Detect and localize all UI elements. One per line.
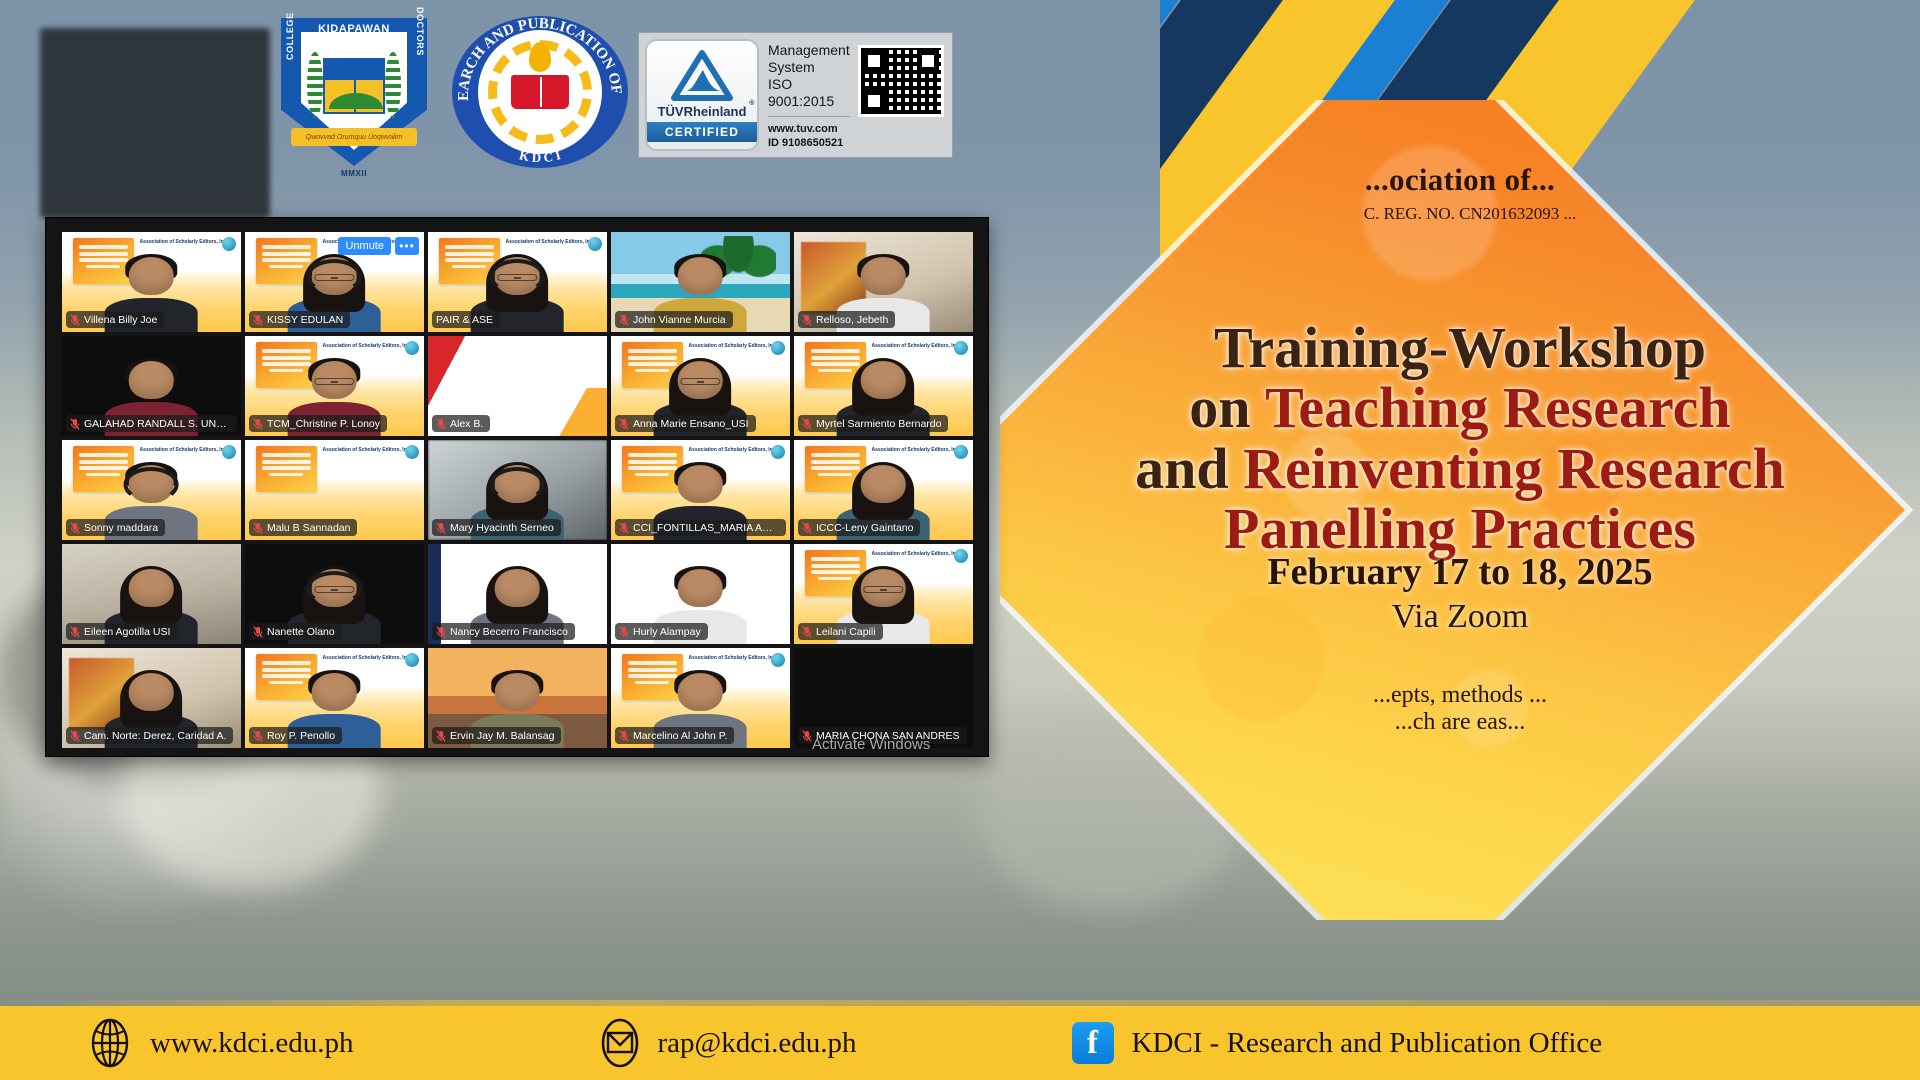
muted-microphone-icon bbox=[253, 730, 263, 742]
participant-name-badge: TCM_Christine P. Lonoy bbox=[249, 415, 387, 432]
participant-name-badge: Eileen Agotilla USI bbox=[66, 623, 177, 640]
muted-microphone-icon bbox=[619, 314, 629, 326]
participant-name-badge: Anna Marie Ensano_USI bbox=[615, 415, 756, 432]
participant-tile[interactable]: Eileen Agotilla USI bbox=[62, 544, 241, 644]
muted-microphone-icon bbox=[436, 730, 446, 742]
participant-tile[interactable]: Association of Scholarly Editors, Inc.Ro… bbox=[245, 648, 424, 748]
eyeglasses-icon bbox=[864, 586, 904, 593]
muted-microphone-icon bbox=[70, 522, 80, 534]
association-banner-text: Association of Scholarly Editors, Inc. bbox=[500, 239, 600, 248]
participant-name: Leilani Capili bbox=[816, 626, 876, 638]
facebook-icon: f bbox=[1072, 1022, 1114, 1064]
muted-microphone-icon bbox=[619, 626, 629, 638]
participant-name-badge: Hurly Alampay bbox=[615, 623, 708, 640]
association-banner-text: Association of Scholarly Editors, Inc. bbox=[866, 343, 966, 352]
tuv-line-1: Management bbox=[768, 42, 858, 59]
tuv-id: ID 9108650521 bbox=[768, 137, 843, 149]
participant-name: KISSY EDULAN bbox=[267, 314, 343, 326]
seal-text-right: DOCTORS bbox=[415, 7, 425, 56]
association-logo-icon bbox=[405, 445, 419, 459]
participant-name: Nanette Olano bbox=[267, 626, 335, 638]
footer-facebook-text: KDCI - Research and Publication Office bbox=[1132, 1027, 1603, 1060]
participant-name-badge: ICCC-Leny Gaintano bbox=[798, 519, 920, 536]
participant-tile[interactable]: Association of Scholarly Editors, Inc.My… bbox=[794, 336, 973, 436]
globe-icon bbox=[88, 1018, 132, 1068]
muted-microphone-icon bbox=[436, 522, 446, 534]
muted-microphone-icon bbox=[802, 730, 812, 742]
muted-microphone-icon bbox=[70, 314, 80, 326]
association-banner-text: Association of Scholarly Editors, Inc. bbox=[317, 655, 417, 664]
association-logo-icon bbox=[405, 653, 419, 667]
participant-name: Villena Billy Joe bbox=[84, 314, 157, 326]
footer-website-text: www.kdci.edu.ph bbox=[150, 1027, 354, 1060]
participant-name-badge: Nanette Olano bbox=[249, 623, 342, 640]
participant-name: Alex B. bbox=[450, 418, 483, 430]
association-banner-text: Association of Scholarly Editors, Inc. bbox=[317, 343, 417, 352]
eyeglasses-icon bbox=[315, 378, 355, 385]
participant-tile[interactable]: Ervin Jay M. Balansag bbox=[428, 648, 607, 748]
participant-tile[interactable]: Association of Scholarly Editors, Inc.Le… bbox=[794, 544, 973, 644]
header-logo-row: KIDAPAWAN COLLEGE DOCTORS Qwovvad Orumqu… bbox=[0, 0, 1200, 200]
association-logo-icon bbox=[771, 341, 785, 355]
muted-microphone-icon bbox=[436, 418, 446, 430]
muted-microphone-icon bbox=[802, 522, 812, 534]
participant-name-badge: KISSY EDULAN bbox=[249, 311, 350, 328]
association-banner-text: Association of Scholarly Editors, Inc. bbox=[866, 551, 966, 560]
participant-grid: Association of Scholarly Editors, Inc.Vi… bbox=[62, 232, 974, 748]
participant-name-badge: Malu B Sannadan bbox=[249, 519, 357, 536]
association-logo-icon bbox=[222, 237, 236, 251]
participant-name: ICCC-Leny Gaintano bbox=[816, 522, 913, 534]
muted-microphone-icon bbox=[802, 314, 812, 326]
research-publication-office-seal-icon: RESEARCH AND PUBLICATION OFFICE K D C I bbox=[452, 16, 628, 168]
participant-name: Eileen Agotilla USI bbox=[84, 626, 170, 638]
envelope-icon bbox=[600, 1018, 640, 1068]
participant-name-badge: Nancy Becerro Francisco bbox=[432, 623, 575, 640]
participant-tile[interactable]: Association of Scholarly Editors, Inc.Ma… bbox=[245, 440, 424, 540]
open-book-icon bbox=[511, 75, 569, 109]
participant-name-badge: Alex B. bbox=[432, 415, 490, 432]
activate-windows-watermark: Activate Windows bbox=[812, 736, 930, 753]
association-banner-text: Association of Scholarly Editors, Inc. bbox=[683, 655, 783, 664]
torch-flame-icon bbox=[529, 42, 551, 72]
muted-microphone-icon bbox=[70, 418, 80, 430]
headset-icon bbox=[307, 571, 362, 605]
participant-name: GALAHAD RANDALL S. UNCIANO, LPT,... bbox=[84, 418, 230, 430]
tuv-brand-label: TÜVRheinland® bbox=[658, 104, 747, 119]
footer-website[interactable]: www.kdci.edu.ph bbox=[88, 1018, 354, 1068]
participant-tile[interactable]: MARIA CHONA SAN ANDRES bbox=[794, 648, 973, 748]
headset-icon bbox=[124, 467, 179, 501]
participant-name-badge: Roy P. Penollo bbox=[249, 727, 342, 744]
association-logo-icon bbox=[405, 341, 419, 355]
association-logo-icon bbox=[588, 237, 602, 251]
association-logo-icon bbox=[771, 653, 785, 667]
more-options-button[interactable]: ••• bbox=[395, 237, 419, 255]
participant-name-badge: Villena Billy Joe bbox=[66, 311, 164, 328]
participant-tile[interactable]: Alex B. bbox=[428, 336, 607, 436]
association-logo-icon bbox=[954, 341, 968, 355]
participant-name-badge: Mary Hyacinth Serneo bbox=[432, 519, 561, 536]
association-logo-icon bbox=[954, 549, 968, 563]
participant-tile[interactable]: John Vianne Murcia bbox=[611, 232, 790, 332]
footer-facebook[interactable]: f KDCI - Research and Publication Office bbox=[1072, 1022, 1603, 1064]
muted-microphone-icon bbox=[619, 522, 629, 534]
participant-name: Relloso, Jebeth bbox=[816, 314, 888, 326]
association-logo-icon bbox=[222, 445, 236, 459]
participant-name: Myrtel Sarmiento Bernardo bbox=[816, 418, 941, 430]
participant-tile[interactable]: Association of Scholarly Editors, Inc.So… bbox=[62, 440, 241, 540]
muted-microphone-icon bbox=[70, 730, 80, 742]
participant-tile[interactable]: Hurly Alampay bbox=[611, 544, 790, 644]
tuv-line-3: ISO 9001:2015 bbox=[768, 76, 858, 110]
kdci-college-seal-icon: KIDAPAWAN COLLEGE DOCTORS Qwovvad Orumqu… bbox=[281, 18, 427, 166]
tuv-brand-text: TÜVRheinland bbox=[658, 104, 747, 119]
participant-name: Nancy Becerro Francisco bbox=[450, 626, 568, 638]
participant-name: Cam. Norte: Derez, Caridad A. bbox=[84, 730, 226, 742]
participant-name-badge: Marcelino Al John P. bbox=[615, 727, 734, 744]
participant-tile[interactable]: Association of Scholarly Editors, Inc.TC… bbox=[245, 336, 424, 436]
participant-name-badge: Cam. Norte: Derez, Caridad A. bbox=[66, 727, 233, 744]
participant-name-badge: Ervin Jay M. Balansag bbox=[432, 727, 561, 744]
muted-microphone-icon bbox=[619, 730, 629, 742]
participant-name: Ervin Jay M. Balansag bbox=[450, 730, 554, 742]
participant-name: Hurly Alampay bbox=[633, 626, 701, 638]
participant-name: Mary Hyacinth Serneo bbox=[450, 522, 554, 534]
muted-microphone-icon bbox=[436, 626, 446, 638]
participant-tile[interactable]: Association of Scholarly Editors, Inc.Ma… bbox=[611, 648, 790, 748]
footer-bar: www.kdci.edu.ph rap@kdci.edu.ph f KDCI -… bbox=[0, 1006, 1920, 1080]
event-poster-thumbnail bbox=[256, 446, 317, 492]
muted-microphone-icon bbox=[253, 418, 263, 430]
participant-name-badge: GALAHAD RANDALL S. UNCIANO, LPT,... bbox=[66, 415, 237, 432]
muted-microphone-icon bbox=[802, 626, 812, 638]
participant-tile[interactable]: Nanette Olano bbox=[245, 544, 424, 644]
participant-name: John Vianne Murcia bbox=[633, 314, 726, 326]
participant-name: Malu B Sannadan bbox=[267, 522, 350, 534]
participant-tile[interactable]: Association of Scholarly Editors, Inc.IC… bbox=[794, 440, 973, 540]
participant-name: Roy P. Penollo bbox=[267, 730, 335, 742]
participant-tile[interactable]: Mary Hyacinth Serneo bbox=[428, 440, 607, 540]
headset-icon bbox=[490, 467, 545, 501]
tuv-rheinland-certification-badge: TÜVRheinland® CERTIFIED Management Syste… bbox=[638, 32, 953, 158]
poster-diamond: ...ociation of... C. REG. NO. CN20163209… bbox=[1000, 100, 1920, 920]
participant-name-badge: John Vianne Murcia bbox=[615, 311, 733, 328]
participant-name-badge: Leilani Capili bbox=[798, 623, 883, 640]
muted-microphone-icon bbox=[619, 418, 629, 430]
association-banner-text: Association of Scholarly Editors, Inc. bbox=[683, 343, 783, 352]
participant-name-badge: PAIR & ASE bbox=[432, 311, 500, 328]
footer-email-text: rap@kdci.edu.ph bbox=[658, 1027, 857, 1060]
participant-tile[interactable]: Association of Scholarly Editors, Inc.Un… bbox=[245, 232, 424, 332]
muted-microphone-icon bbox=[253, 522, 263, 534]
association-banner-text: Association of Scholarly Editors, Inc. bbox=[866, 447, 966, 456]
participant-name: CCI_FONTILLAS_MARIA AMALUZ bbox=[633, 522, 779, 534]
qr-code-icon bbox=[858, 45, 944, 117]
association-banner-text: Association of Scholarly Editors, Inc. bbox=[134, 447, 234, 456]
participant-name-badge: Sonny maddara bbox=[66, 519, 165, 536]
seal-text-left: COLLEGE bbox=[285, 12, 295, 60]
muted-microphone-icon bbox=[802, 418, 812, 430]
seal-ribbon-motto: Qwovvad Orumquu Uoqwvalim bbox=[291, 128, 417, 146]
tuv-certified-banner: CERTIFIED bbox=[647, 122, 757, 142]
footer-email[interactable]: rap@kdci.edu.ph bbox=[600, 1018, 857, 1068]
tuv-line-2: System bbox=[768, 59, 858, 76]
participant-name-badge: Relloso, Jebeth bbox=[798, 311, 895, 328]
headset-icon bbox=[490, 259, 545, 293]
association-logo-icon bbox=[954, 445, 968, 459]
screenshot-root: ...ociation of... C. REG. NO. CN20163209… bbox=[0, 0, 1920, 1080]
muted-microphone-icon bbox=[70, 626, 80, 638]
participant-name-badge: Myrtel Sarmiento Bernardo bbox=[798, 415, 948, 432]
participant-name: Marcelino Al John P. bbox=[633, 730, 727, 742]
participant-name: Anna Marie Ensano_USI bbox=[633, 418, 749, 430]
participant-tile[interactable]: Association of Scholarly Editors, Inc.PA… bbox=[428, 232, 607, 332]
participant-name: TCM_Christine P. Lonoy bbox=[267, 418, 380, 430]
tuv-url: www.tuv.com bbox=[768, 123, 838, 135]
participant-tile[interactable]: Association of Scholarly Editors, Inc.CC… bbox=[611, 440, 790, 540]
participant-tile[interactable]: Cam. Norte: Derez, Caridad A. bbox=[62, 648, 241, 748]
eyeglasses-icon bbox=[681, 378, 721, 385]
tuv-triangle-icon bbox=[670, 50, 734, 102]
participant-tile[interactable]: GALAHAD RANDALL S. UNCIANO, LPT,... bbox=[62, 336, 241, 436]
participant-tile[interactable]: Relloso, Jebeth bbox=[794, 232, 973, 332]
participant-tile[interactable]: Nancy Becerro Francisco bbox=[428, 544, 607, 644]
association-banner-text: Association of Scholarly Editors, Inc. bbox=[134, 239, 234, 248]
association-banner-text: Association of Scholarly Editors, Inc. bbox=[317, 447, 417, 456]
muted-microphone-icon bbox=[253, 626, 263, 638]
participant-tile[interactable]: Association of Scholarly Editors, Inc.An… bbox=[611, 336, 790, 436]
zoom-meeting-window[interactable]: Association of Scholarly Editors, Inc.Vi… bbox=[45, 217, 989, 757]
association-logo-icon bbox=[771, 445, 785, 459]
participant-name-badge: CCI_FONTILLAS_MARIA AMALUZ bbox=[615, 519, 786, 536]
participant-name: PAIR & ASE bbox=[436, 314, 493, 326]
participant-tile[interactable]: Association of Scholarly Editors, Inc.Vi… bbox=[62, 232, 241, 332]
association-banner-text: Association of Scholarly Editors, Inc. bbox=[683, 447, 783, 456]
muted-microphone-icon bbox=[253, 314, 263, 326]
participant-name: Sonny maddara bbox=[84, 522, 158, 534]
headset-icon bbox=[307, 259, 362, 293]
seal-text-year: MMXII bbox=[281, 169, 427, 178]
unmute-button[interactable]: Unmute bbox=[338, 237, 391, 255]
